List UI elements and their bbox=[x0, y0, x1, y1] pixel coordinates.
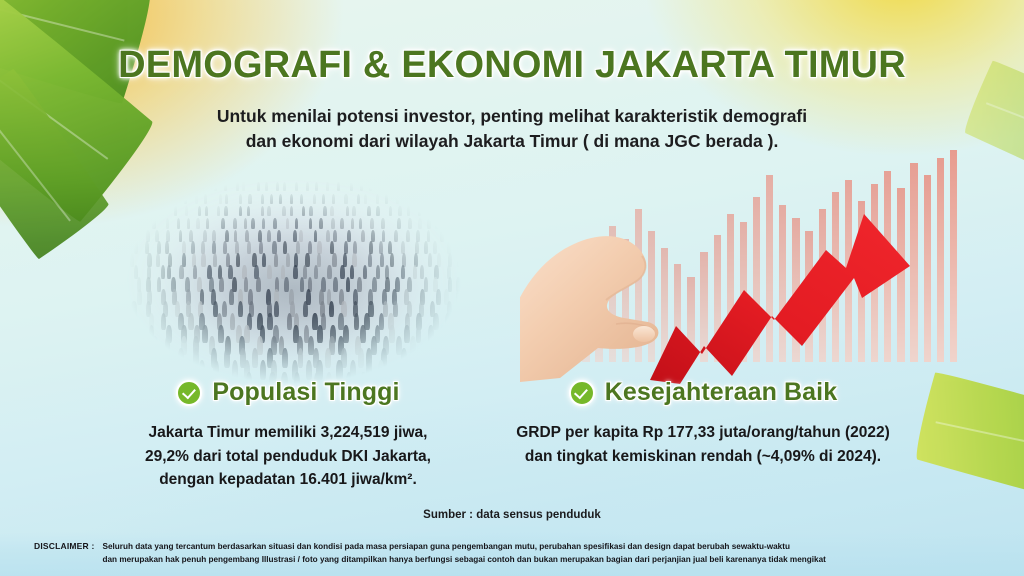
crowd-person bbox=[130, 206, 133, 217]
crowd-person bbox=[225, 194, 228, 204]
crowd-person bbox=[212, 241, 216, 254]
crowd-person bbox=[134, 241, 138, 254]
fact-prosperity-line-1: GRDP per kapita Rp 177,33 juta/orang/tah… bbox=[468, 421, 938, 445]
crowd-person bbox=[251, 218, 255, 229]
crowd-person bbox=[257, 182, 260, 191]
fact-card-prosperity: Kesejahteraan Baik GRDP per kapita Rp 17… bbox=[468, 378, 938, 468]
disclaimer-line-2: dan merupakan hak penuh pengembang Illus… bbox=[102, 553, 825, 566]
page-title: DEMOGRAFI & EKONOMI JAKARTA TIMUR bbox=[0, 44, 1024, 87]
crowd-person bbox=[381, 218, 385, 229]
crowd-person bbox=[221, 218, 225, 229]
crowd-person bbox=[440, 230, 444, 242]
crowd-person bbox=[279, 194, 282, 204]
crowd-person bbox=[196, 218, 200, 229]
crowd-photo-people bbox=[118, 176, 468, 384]
crowd-person bbox=[267, 230, 271, 242]
crowd-person bbox=[270, 194, 273, 204]
crowd-person bbox=[290, 194, 293, 204]
crowd-person bbox=[313, 194, 316, 204]
crowd-person bbox=[379, 241, 383, 254]
crowd-person bbox=[416, 230, 420, 242]
crowd-person bbox=[206, 218, 210, 229]
crowd-person bbox=[155, 230, 159, 242]
crowd-person bbox=[367, 206, 370, 217]
crowd-row bbox=[118, 218, 468, 229]
crowd-person bbox=[157, 241, 161, 254]
crowd-person bbox=[462, 230, 466, 242]
crowd-person bbox=[397, 218, 401, 229]
crowd-person bbox=[351, 218, 355, 229]
crowd-person bbox=[344, 241, 348, 254]
crowd-person bbox=[344, 194, 347, 204]
crowd-person bbox=[319, 218, 323, 229]
disclaimer-bar: DISCLAIMER : Seluruh data yang tercantum… bbox=[0, 532, 1024, 576]
crowd-person bbox=[418, 206, 421, 217]
crowd-person bbox=[172, 182, 175, 191]
crowd-person bbox=[317, 241, 321, 254]
crowd-person bbox=[435, 218, 439, 229]
crowd-person bbox=[214, 182, 217, 191]
crowd-person bbox=[326, 230, 330, 242]
crowd-person bbox=[267, 206, 270, 217]
crowd-person bbox=[179, 230, 183, 242]
crowd-person bbox=[141, 206, 144, 217]
crowd-person bbox=[233, 218, 237, 229]
crowd-person bbox=[145, 194, 148, 204]
fact-prosperity-line-2: dan tingkat kemiskinan rendah (~4,09% di… bbox=[468, 445, 938, 469]
crowd-person bbox=[376, 206, 379, 217]
crowd-person bbox=[217, 206, 220, 217]
crowd-person bbox=[203, 230, 207, 242]
crowd-person bbox=[191, 241, 195, 254]
crowd-person bbox=[361, 230, 365, 242]
crowd-person bbox=[398, 206, 401, 217]
chart-bar bbox=[950, 150, 957, 362]
crowd-person bbox=[141, 218, 145, 229]
crowd-person bbox=[265, 182, 268, 191]
crowd-person bbox=[401, 182, 404, 191]
crowd-person bbox=[407, 206, 410, 217]
crowd-person bbox=[295, 182, 298, 191]
crowd-person bbox=[359, 218, 363, 229]
crowd-person bbox=[146, 230, 150, 242]
crowd-person bbox=[346, 206, 349, 217]
crowd-person bbox=[259, 241, 263, 254]
fact-prosperity-heading: Kesejahteraan Baik bbox=[468, 378, 938, 407]
check-circle-icon bbox=[176, 380, 202, 406]
crowd-person bbox=[340, 218, 344, 229]
crowd-person bbox=[247, 206, 250, 217]
crowd-person bbox=[273, 218, 277, 229]
crowd-person bbox=[369, 182, 372, 191]
crowd-person bbox=[441, 194, 444, 204]
crowd-person bbox=[245, 230, 249, 242]
crowd-person bbox=[204, 194, 207, 204]
crowd-person bbox=[174, 194, 177, 204]
fact-population-line-3: dengan kepadatan 16.401 jiwa/km². bbox=[108, 468, 468, 492]
crowd-person bbox=[258, 230, 262, 242]
crowd-person bbox=[261, 194, 264, 204]
crowd-person bbox=[223, 241, 227, 254]
crowd-person bbox=[388, 241, 392, 254]
crowd-person bbox=[370, 218, 374, 229]
crowd-person bbox=[164, 182, 167, 191]
crowd-person bbox=[387, 182, 390, 191]
crowd-person bbox=[150, 182, 153, 191]
crowd-person bbox=[353, 241, 357, 254]
crowd-person bbox=[463, 218, 467, 229]
crowd-person bbox=[261, 206, 264, 217]
crowd-row bbox=[118, 182, 468, 191]
crowd-person bbox=[347, 230, 351, 242]
check-circle-icon bbox=[569, 380, 595, 406]
crowd-person bbox=[350, 182, 353, 191]
crowd-person bbox=[309, 206, 312, 217]
crowd-person bbox=[427, 218, 431, 229]
crowd-person bbox=[401, 241, 405, 254]
crowd-person bbox=[142, 182, 145, 191]
crowd-person bbox=[129, 182, 132, 191]
crowd-person bbox=[120, 230, 124, 242]
crowd-person bbox=[431, 182, 434, 191]
fact-prosperity-body: GRDP per kapita Rp 177,33 juta/orang/tah… bbox=[468, 421, 938, 468]
crowd-person bbox=[295, 218, 299, 229]
crowd-person bbox=[293, 230, 297, 242]
fact-prosperity-title: Kesejahteraan Baik bbox=[605, 378, 837, 407]
fact-population-line-1: Jakarta Timur memiliki 3,224,519 jiwa, bbox=[108, 421, 468, 445]
crowd-person bbox=[182, 241, 186, 254]
crowd-person bbox=[187, 218, 191, 229]
crowd-person bbox=[282, 206, 285, 217]
crowd-person bbox=[461, 206, 464, 217]
crowd-person bbox=[352, 206, 355, 217]
crowd-person bbox=[337, 182, 340, 191]
crowd-person bbox=[166, 230, 170, 242]
crowd-person bbox=[277, 230, 281, 242]
rising-arrow-icon bbox=[640, 194, 940, 384]
crowd-person bbox=[299, 230, 303, 242]
crowd-person bbox=[427, 230, 431, 242]
crowd-person bbox=[450, 218, 454, 229]
crowd-person bbox=[308, 241, 312, 254]
crowd-person bbox=[164, 194, 167, 204]
crowd-person bbox=[165, 241, 169, 254]
crowd-person bbox=[306, 182, 309, 191]
crowd-person bbox=[424, 241, 428, 254]
crowd-row bbox=[118, 194, 468, 204]
crowd-person bbox=[119, 218, 123, 229]
crowd-person bbox=[174, 206, 177, 217]
crowd-person bbox=[276, 182, 279, 191]
crowd-person bbox=[302, 206, 305, 217]
crowd-person bbox=[242, 182, 245, 191]
crowd-person bbox=[239, 206, 242, 217]
fact-population-line-2: 29,2% dari total penduduk DKI Jakarta, bbox=[108, 445, 468, 469]
crowd-person bbox=[272, 241, 276, 254]
crowd-person bbox=[326, 182, 329, 191]
crowd-person bbox=[296, 241, 300, 254]
crowd-person bbox=[323, 206, 326, 217]
crowd-person bbox=[121, 206, 124, 217]
disclaimer-text: Seluruh data yang tercantum berdasarkan … bbox=[102, 540, 825, 567]
crowd-person bbox=[236, 182, 239, 191]
crowd-person bbox=[195, 194, 198, 204]
crowd-person bbox=[415, 241, 419, 254]
crowd-person bbox=[371, 230, 375, 242]
crowd-person bbox=[130, 218, 134, 229]
crowd-person bbox=[433, 241, 437, 254]
crowd-person bbox=[206, 182, 209, 191]
crowd-person bbox=[262, 218, 266, 229]
crowd-person bbox=[418, 218, 422, 229]
subtitle-line-1: Untuk menilai potensi investor, penting … bbox=[0, 104, 1024, 129]
crowd-photo bbox=[118, 176, 468, 384]
crowd-person bbox=[234, 230, 238, 242]
crowd-person bbox=[286, 218, 290, 229]
crowd-person bbox=[463, 194, 466, 204]
crowd-person bbox=[451, 194, 454, 204]
crowd-person bbox=[332, 194, 335, 204]
crowd-person bbox=[369, 241, 373, 254]
crowd-person bbox=[314, 230, 318, 242]
crowd-person bbox=[161, 206, 164, 217]
crowd-person bbox=[130, 230, 134, 242]
fact-population-body: Jakarta Timur memiliki 3,224,519 jiwa, 2… bbox=[108, 421, 468, 492]
crowd-person bbox=[408, 218, 412, 229]
crowd-person bbox=[123, 182, 126, 191]
crowd-person bbox=[177, 218, 181, 229]
crowd-person bbox=[385, 194, 388, 204]
infographic-slide: DEMOGRAFI & EKONOMI JAKARTA TIMUR Untuk … bbox=[0, 0, 1024, 576]
crowd-person bbox=[417, 194, 420, 204]
crowd-person bbox=[152, 218, 156, 229]
crowd-person bbox=[422, 182, 425, 191]
crowd-person bbox=[290, 206, 293, 217]
crowd-person bbox=[219, 194, 222, 204]
crowd-person bbox=[331, 218, 335, 229]
crowd-row bbox=[118, 230, 468, 242]
crowd-person bbox=[201, 241, 205, 254]
crowd-person bbox=[205, 206, 208, 217]
crowd-person bbox=[300, 194, 303, 204]
crowd-person bbox=[239, 194, 242, 204]
crowd-person bbox=[151, 206, 154, 217]
crowd-person bbox=[357, 194, 360, 204]
crowd-person bbox=[134, 194, 137, 204]
fact-population-title: Populasi Tinggi bbox=[212, 378, 399, 407]
crowd-person bbox=[184, 194, 187, 204]
crowd-person bbox=[198, 206, 201, 217]
crowd-person bbox=[378, 182, 381, 191]
crowd-person bbox=[248, 194, 251, 204]
crowd-person bbox=[225, 230, 229, 242]
crowd-person bbox=[283, 182, 286, 191]
crowd-person bbox=[145, 241, 149, 254]
crowd-person bbox=[166, 218, 170, 229]
page-subtitle: Untuk menilai potensi investor, penting … bbox=[0, 104, 1024, 154]
crowd-person bbox=[462, 182, 465, 191]
crowd-person bbox=[309, 218, 313, 229]
crowd-person bbox=[382, 230, 386, 242]
disclaimer-line-1: Seluruh data yang tercantum berdasarkan … bbox=[102, 540, 825, 553]
crowd-person bbox=[224, 206, 227, 217]
crowd-person bbox=[410, 194, 413, 204]
crowd-person bbox=[364, 194, 367, 204]
crowd-person bbox=[447, 241, 451, 254]
crowd-person bbox=[442, 182, 445, 191]
crowd-person bbox=[151, 194, 154, 204]
growth-visual bbox=[520, 150, 960, 388]
crowd-person bbox=[457, 241, 461, 254]
crowd-person bbox=[333, 230, 337, 242]
crowd-person bbox=[452, 206, 455, 217]
crowd-person bbox=[452, 182, 455, 191]
crowd-person bbox=[244, 218, 248, 229]
crowd-row bbox=[118, 206, 468, 217]
crowd-person bbox=[406, 230, 410, 242]
crowd-person bbox=[247, 241, 251, 254]
crowd-person bbox=[212, 230, 216, 242]
crowd-person bbox=[330, 241, 334, 254]
crowd-person bbox=[428, 194, 431, 204]
crowd-person bbox=[360, 182, 363, 191]
crowd-person bbox=[407, 182, 410, 191]
crowd-person bbox=[185, 206, 188, 217]
disclaimer-label: DISCLAIMER : bbox=[34, 541, 94, 551]
fact-population-heading: Populasi Tinggi bbox=[108, 378, 468, 407]
crowd-person bbox=[396, 194, 399, 204]
crowd-person bbox=[330, 206, 333, 217]
crowd-person bbox=[440, 206, 443, 217]
fact-card-population: Populasi Tinggi Jakarta Timur memiliki 3… bbox=[108, 378, 468, 492]
crowd-person bbox=[315, 182, 318, 191]
crowd-person bbox=[195, 182, 198, 191]
crowd-person bbox=[430, 206, 433, 217]
crowd-person bbox=[449, 230, 453, 242]
crowd-person bbox=[322, 194, 325, 204]
crowd-person bbox=[122, 194, 125, 204]
crowd-person bbox=[120, 241, 124, 254]
crowd-person bbox=[184, 182, 187, 191]
crowd-person bbox=[389, 206, 392, 217]
crowd-person bbox=[283, 241, 287, 254]
crowd-person bbox=[376, 194, 379, 204]
crowd-row bbox=[118, 241, 468, 254]
source-note: Sumber : data sensus penduduk bbox=[0, 509, 1024, 521]
crowd-person bbox=[189, 230, 193, 242]
crowd-person bbox=[235, 241, 239, 254]
crowd-person bbox=[224, 182, 227, 191]
crowd-person bbox=[394, 230, 398, 242]
